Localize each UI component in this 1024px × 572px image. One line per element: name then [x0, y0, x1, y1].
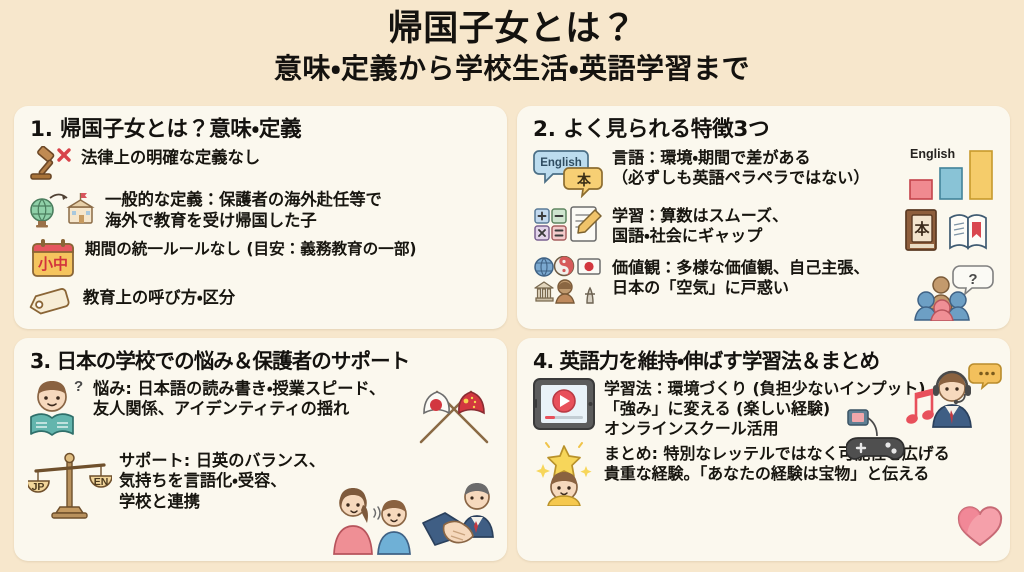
panel-2-title: 2. よく見られる特徴3つ	[533, 118, 998, 142]
list-item-text: 言語：環境・期間で差がある （必ずしも英語ペラペラではない）	[612, 146, 870, 189]
calendar-icon-label: 小中	[38, 255, 68, 273]
headset-support-icon	[928, 362, 1006, 432]
globe-school-icon	[28, 188, 98, 236]
list-item-text: 期間の統一ルールなし (目安：義務教育の一部)	[85, 238, 417, 260]
crossed-flags-icon	[409, 382, 499, 452]
page-title: 帰国子女とは？	[0, 10, 1024, 49]
list-item: 一般的な定義：保護者の海外赴任等で 海外で教育を受け帰国した子	[28, 188, 495, 236]
calendar-icon: 小中	[28, 238, 78, 284]
list-item: 小中 期間の統一ルールなし (目安：義務教育の一部)	[28, 238, 495, 284]
list-item-text: 法律上の明確な定義なし	[81, 146, 260, 169]
page-subtitle: 意味・定義から学校生活・英語学習まで	[0, 52, 1024, 86]
list-item-text: 教育上の呼び方・区分	[83, 286, 235, 309]
panel-1-title: 1. 帰国子女とは？意味・定義	[30, 118, 495, 142]
math-notes-icon	[533, 204, 605, 254]
list-item-text: 悩み: 日本語の読み書き・授業スピード、 友人関係、アイデンティティの揺れ	[93, 377, 385, 420]
panel-grid: 1. 帰国子女とは？意味・定義	[14, 106, 1010, 561]
game-controller-icon	[846, 408, 910, 468]
panel-school-support: 3. 日本の学校での悩み＆保護者のサポート ?	[14, 338, 507, 561]
panel-learning-summary: 4. 英語力を維持・伸ばす学習法＆まとめ	[517, 338, 1010, 561]
list-item: 法律上の明確な定義なし	[28, 146, 495, 186]
scale-label-jp: JP	[32, 481, 45, 493]
culture-icons	[533, 256, 605, 308]
speech-bubbles-icon: English 本	[533, 146, 605, 202]
star-child-icon	[531, 442, 597, 510]
gavel-no-icon	[28, 146, 74, 186]
list-item-text: 一般的な定義：保護者の海外赴任等で 海外で教育を受け帰国した子	[105, 188, 382, 232]
heart-icon	[956, 505, 1004, 553]
books-icon: 本	[902, 206, 998, 258]
panel-definition: 1. 帰国子女とは？意味・定義	[14, 106, 507, 329]
panel-characteristics: 2. よく見られる特徴3つ English 本 言語：環境・期間で差がある （必…	[517, 106, 1010, 329]
scale-label-en: EN	[94, 476, 109, 488]
list-item: まとめ: 特別なレッテルではなく可能性を広げる 貴重な経験。「あなたの経験は宝物…	[531, 442, 998, 510]
list-item-text: 価値観：多様な価値観、自己主張、 日本の「空気」に戸惑い	[612, 256, 870, 299]
child-reading-icon: ?	[28, 377, 86, 443]
tablet-video-icon	[531, 377, 597, 435]
handshake-icon	[419, 481, 505, 559]
english-bar-chart: English	[904, 142, 1000, 206]
list-item-text: サポート: 日英のバランス、 気持ちを言語化・受容、 学校と連携	[119, 449, 325, 513]
panel-1-rows: 法律上の明確な定義なし	[28, 146, 495, 324]
worry-question-mark: ?	[74, 378, 83, 395]
question-mark-label: ?	[968, 271, 977, 288]
parent-child-icon	[329, 483, 421, 559]
speech-bubble-japanese-label: 本	[576, 172, 592, 189]
people-question-icon: ?	[914, 263, 1002, 325]
bar-chart-title: English	[910, 147, 955, 161]
balance-scale-icon: JP EN	[28, 449, 112, 525]
page-header: 帰国子女とは？ 意味・定義から学校生活・英語学習まで	[0, 0, 1024, 92]
tag-icon	[28, 286, 76, 322]
infographic-page: 帰国子女とは？ 意味・定義から学校生活・英語学習まで 1. 帰国子女とは？意味・…	[0, 0, 1024, 572]
list-item-text: 学習：算数はスムーズ、 国語・社会にギャップ	[612, 204, 788, 247]
panel-3-title: 3. 日本の学校での悩み＆保護者のサポート	[30, 350, 495, 373]
book-cover-label: 本	[913, 220, 930, 238]
list-item: 教育上の呼び方・区分	[28, 286, 495, 322]
